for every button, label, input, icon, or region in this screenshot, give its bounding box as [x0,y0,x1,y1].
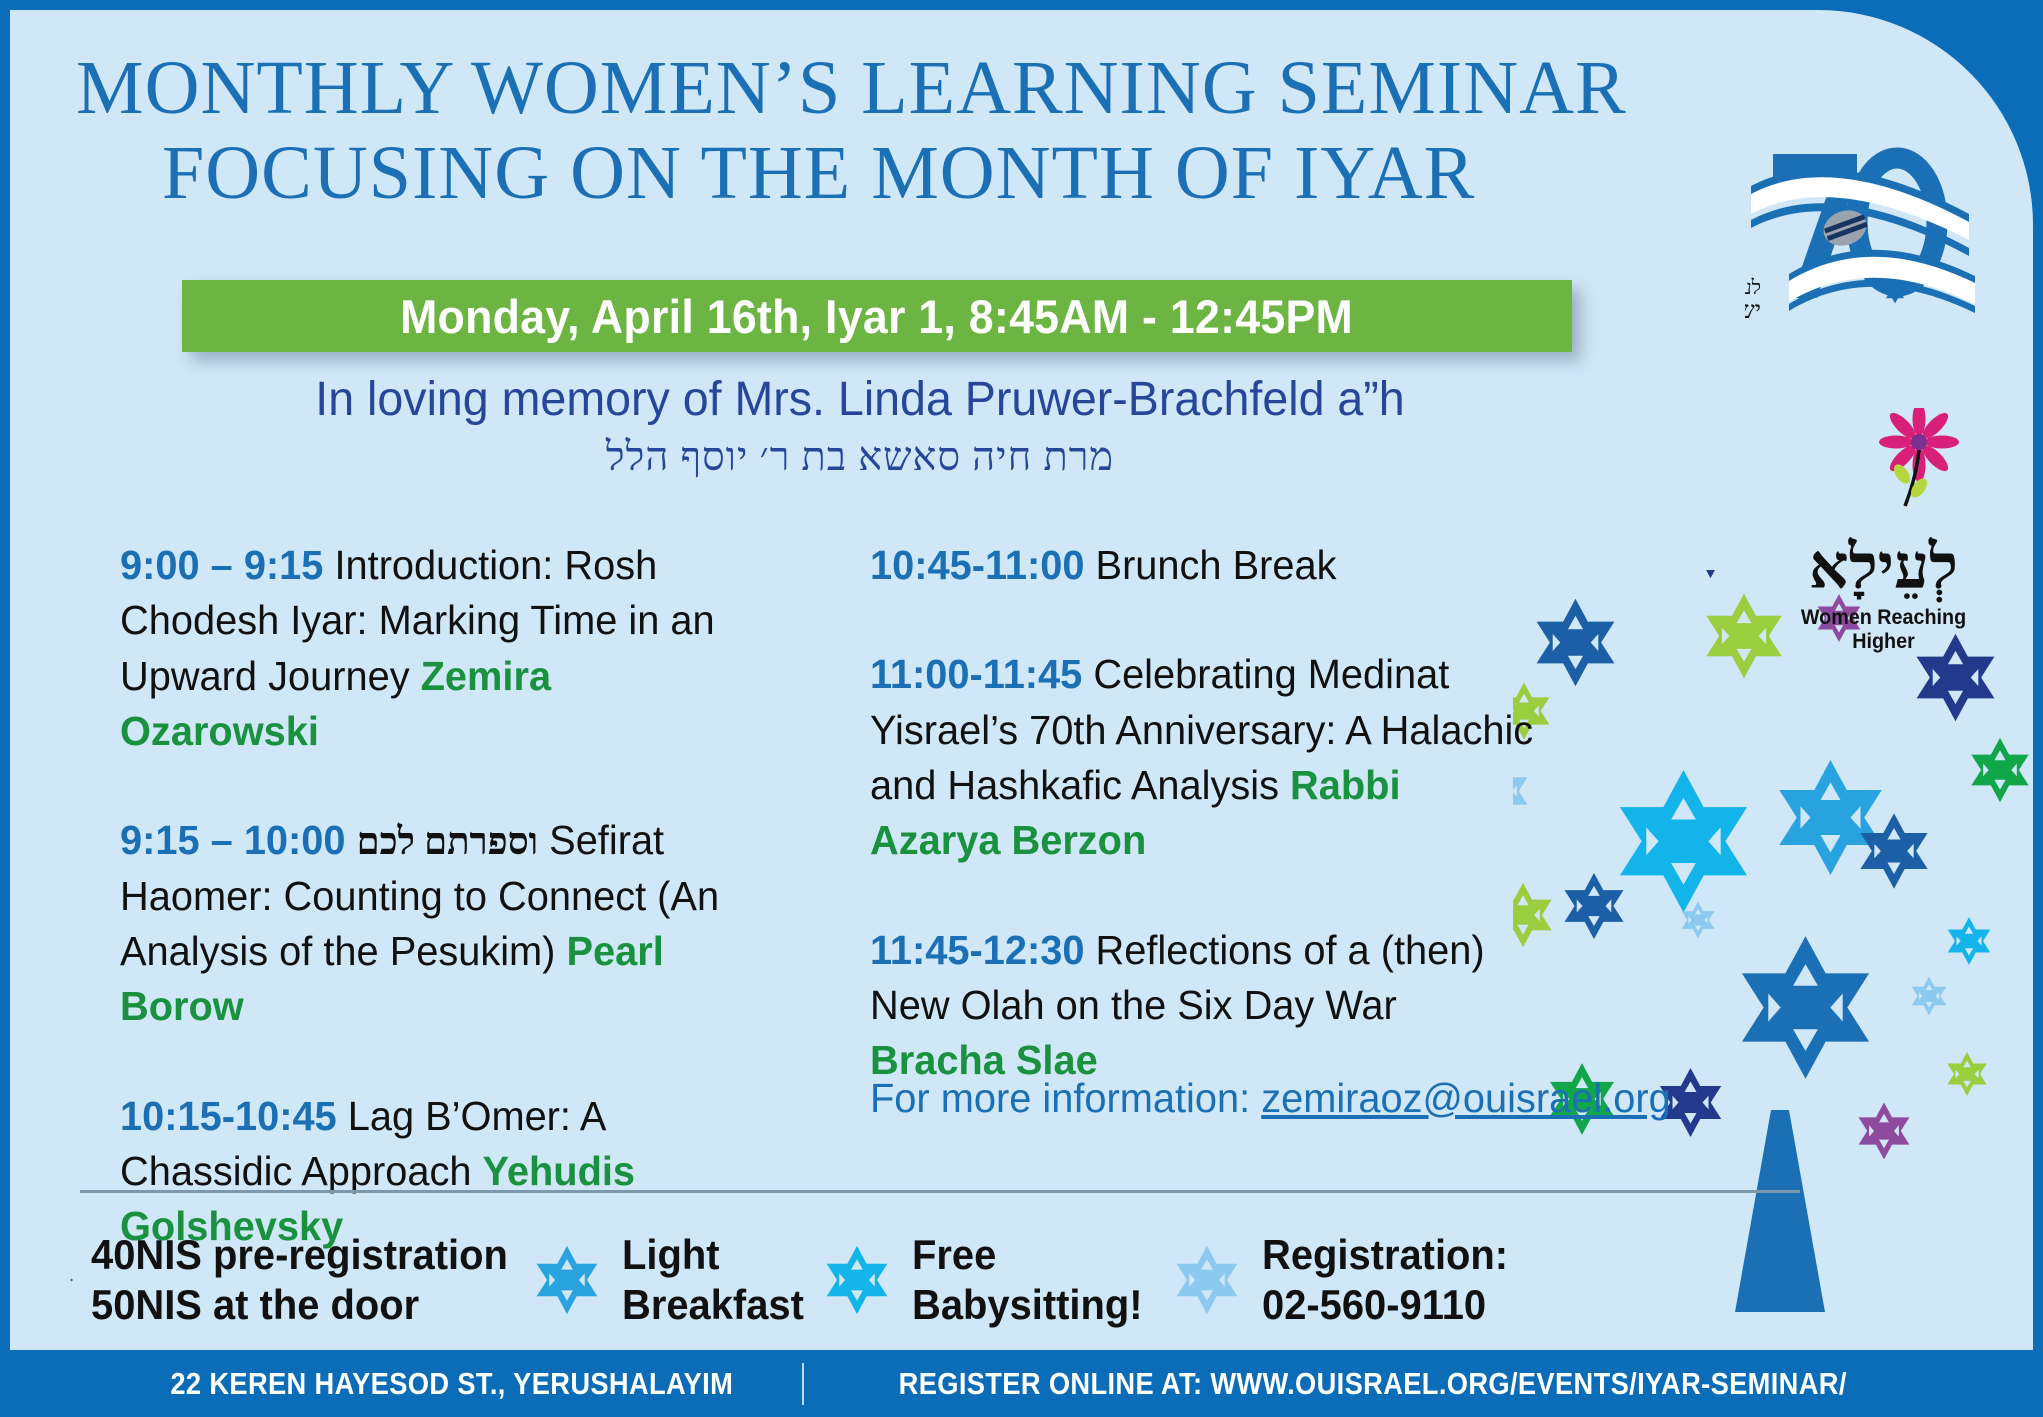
schedule-item: 10:45-11:00 Brunch Break [870,538,1560,593]
israel70-hebrew-line-1: לעצמאות [1745,277,1761,299]
more-info-label: For more information: [870,1075,1261,1121]
more-information: For more information: zemiraoz@ouisrael.… [870,1075,1695,1122]
session-time: 11:45-12:30 [870,927,1084,973]
session-time: 11:00-11:45 [870,651,1082,697]
leilah-tagline: Women Reaching Higher [1782,606,1984,654]
schedule-column-left: 9:00 – 9:15 Introduction: Rosh Chodesh I… [120,538,770,1309]
footer-address: 22 KEREN HAYESOD ST., YERUSHALAYIM [170,1366,733,1402]
schedule: 9:00 – 9:15 Introduction: Rosh Chodesh I… [10,538,2033,1158]
schedule-item: 9:00 – 9:15 Introduction: Rosh Chodesh I… [120,538,770,759]
star-of-david-icon [530,1243,604,1317]
session-time: 10:15-10:45 [120,1093,337,1139]
schedule-item: 11:45-12:30 Reflections of a (then) New … [870,923,1560,1089]
info-row: 40NIS pre-registration 50NIS at the door… [70,1225,1810,1335]
session-title: Brunch Break [1084,542,1336,588]
pricing-line-1: 40NIS pre-registration [91,1230,508,1280]
session-time: 10:45-11:00 [870,542,1084,588]
contact-email-link[interactable]: zemiraoz@ouisrael.org [1261,1075,1671,1121]
israel70-hebrew-line-2: ישראל [1745,298,1761,324]
flower-icon [1776,408,1991,528]
pricing-line-2: 50NIS at the door [91,1280,508,1330]
info-cell-pricing: 40NIS pre-registration 50NIS at the door [70,1230,530,1329]
title-line-1: MONTHLY WOMEN’S LEARNING SEMINAR [76,46,1716,131]
session-time: 9:00 – 9:15 [120,542,323,588]
session-time: 9:15 – 10:00 [120,817,346,863]
session-title-hebrew: וספרתם לכם [357,821,539,863]
breakfast-line-2: Breakfast [622,1280,804,1330]
babysitting-line-2: Babysitting! [912,1280,1143,1330]
info-cell-breakfast: Light Breakfast [530,1230,820,1329]
page-title: MONTHLY WOMEN’S LEARNING SEMINAR FOCUSIN… [76,46,1716,216]
info-cell-babysitting: Free Babysitting! [820,1230,1170,1329]
footer-register-url[interactable]: REGISTER ONLINE AT: WWW.OUISRAEL.ORG/EVE… [898,1366,1846,1402]
date-banner: Monday, April 16th, Iyar 1, 8:45AM - 12:… [182,280,1572,352]
title-line-2: FOCUSING ON THE MONTH OF IYAR [76,131,1716,216]
star-of-david-icon [70,1243,73,1317]
section-divider [80,1190,1800,1193]
footer-separator [802,1363,804,1405]
star-of-david-icon [1170,1243,1244,1317]
date-banner-text: Monday, April 16th, Iyar 1, 8:45AM - 12:… [401,289,1354,344]
memorial-english: In loving memory of Mrs. Linda Pruwer-Br… [36,372,1685,427]
info-cell-registration: Registration: 02-560-9110 [1170,1230,1590,1329]
registration-phone: 02-560-9110 [1262,1280,1508,1330]
schedule-item: 11:00-11:45 Celebrating Medinat Yisrael’… [870,647,1560,868]
footer-bar: 22 KEREN HAYESOD ST., YERUSHALAYIM REGIS… [0,1350,2043,1417]
babysitting-line-1: Free [912,1230,1143,1280]
flyer-root: MONTHLY WOMEN’S LEARNING SEMINAR FOCUSIN… [0,0,2043,1417]
star-of-david-icon [820,1243,894,1317]
registration-line-1: Registration: [1262,1230,1508,1280]
schedule-item: 9:15 – 10:00 וספרתם לכם Sefirat Haomer: … [120,813,770,1034]
leilah-logo: לְעֵילָא Women Reaching Higher [1776,408,1991,593]
memorial-hebrew: מרת חיה סאשא בת ר׳ יוסף הלל [10,433,1710,480]
memorial-dedication: In loving memory of Mrs. Linda Pruwer-Br… [10,372,1710,480]
leilah-hebrew-name: לְעֵילָא [1776,537,1991,599]
flyer-panel: MONTHLY WOMEN’S LEARNING SEMINAR FOCUSIN… [10,10,2033,1350]
schedule-column-right: 10:45-11:00 Brunch Break 11:00-11:45 Cel… [870,538,1560,1143]
israel-70-logo: לעצמאות ישראל [1745,128,1975,338]
breakfast-line-1: Light [622,1230,804,1280]
